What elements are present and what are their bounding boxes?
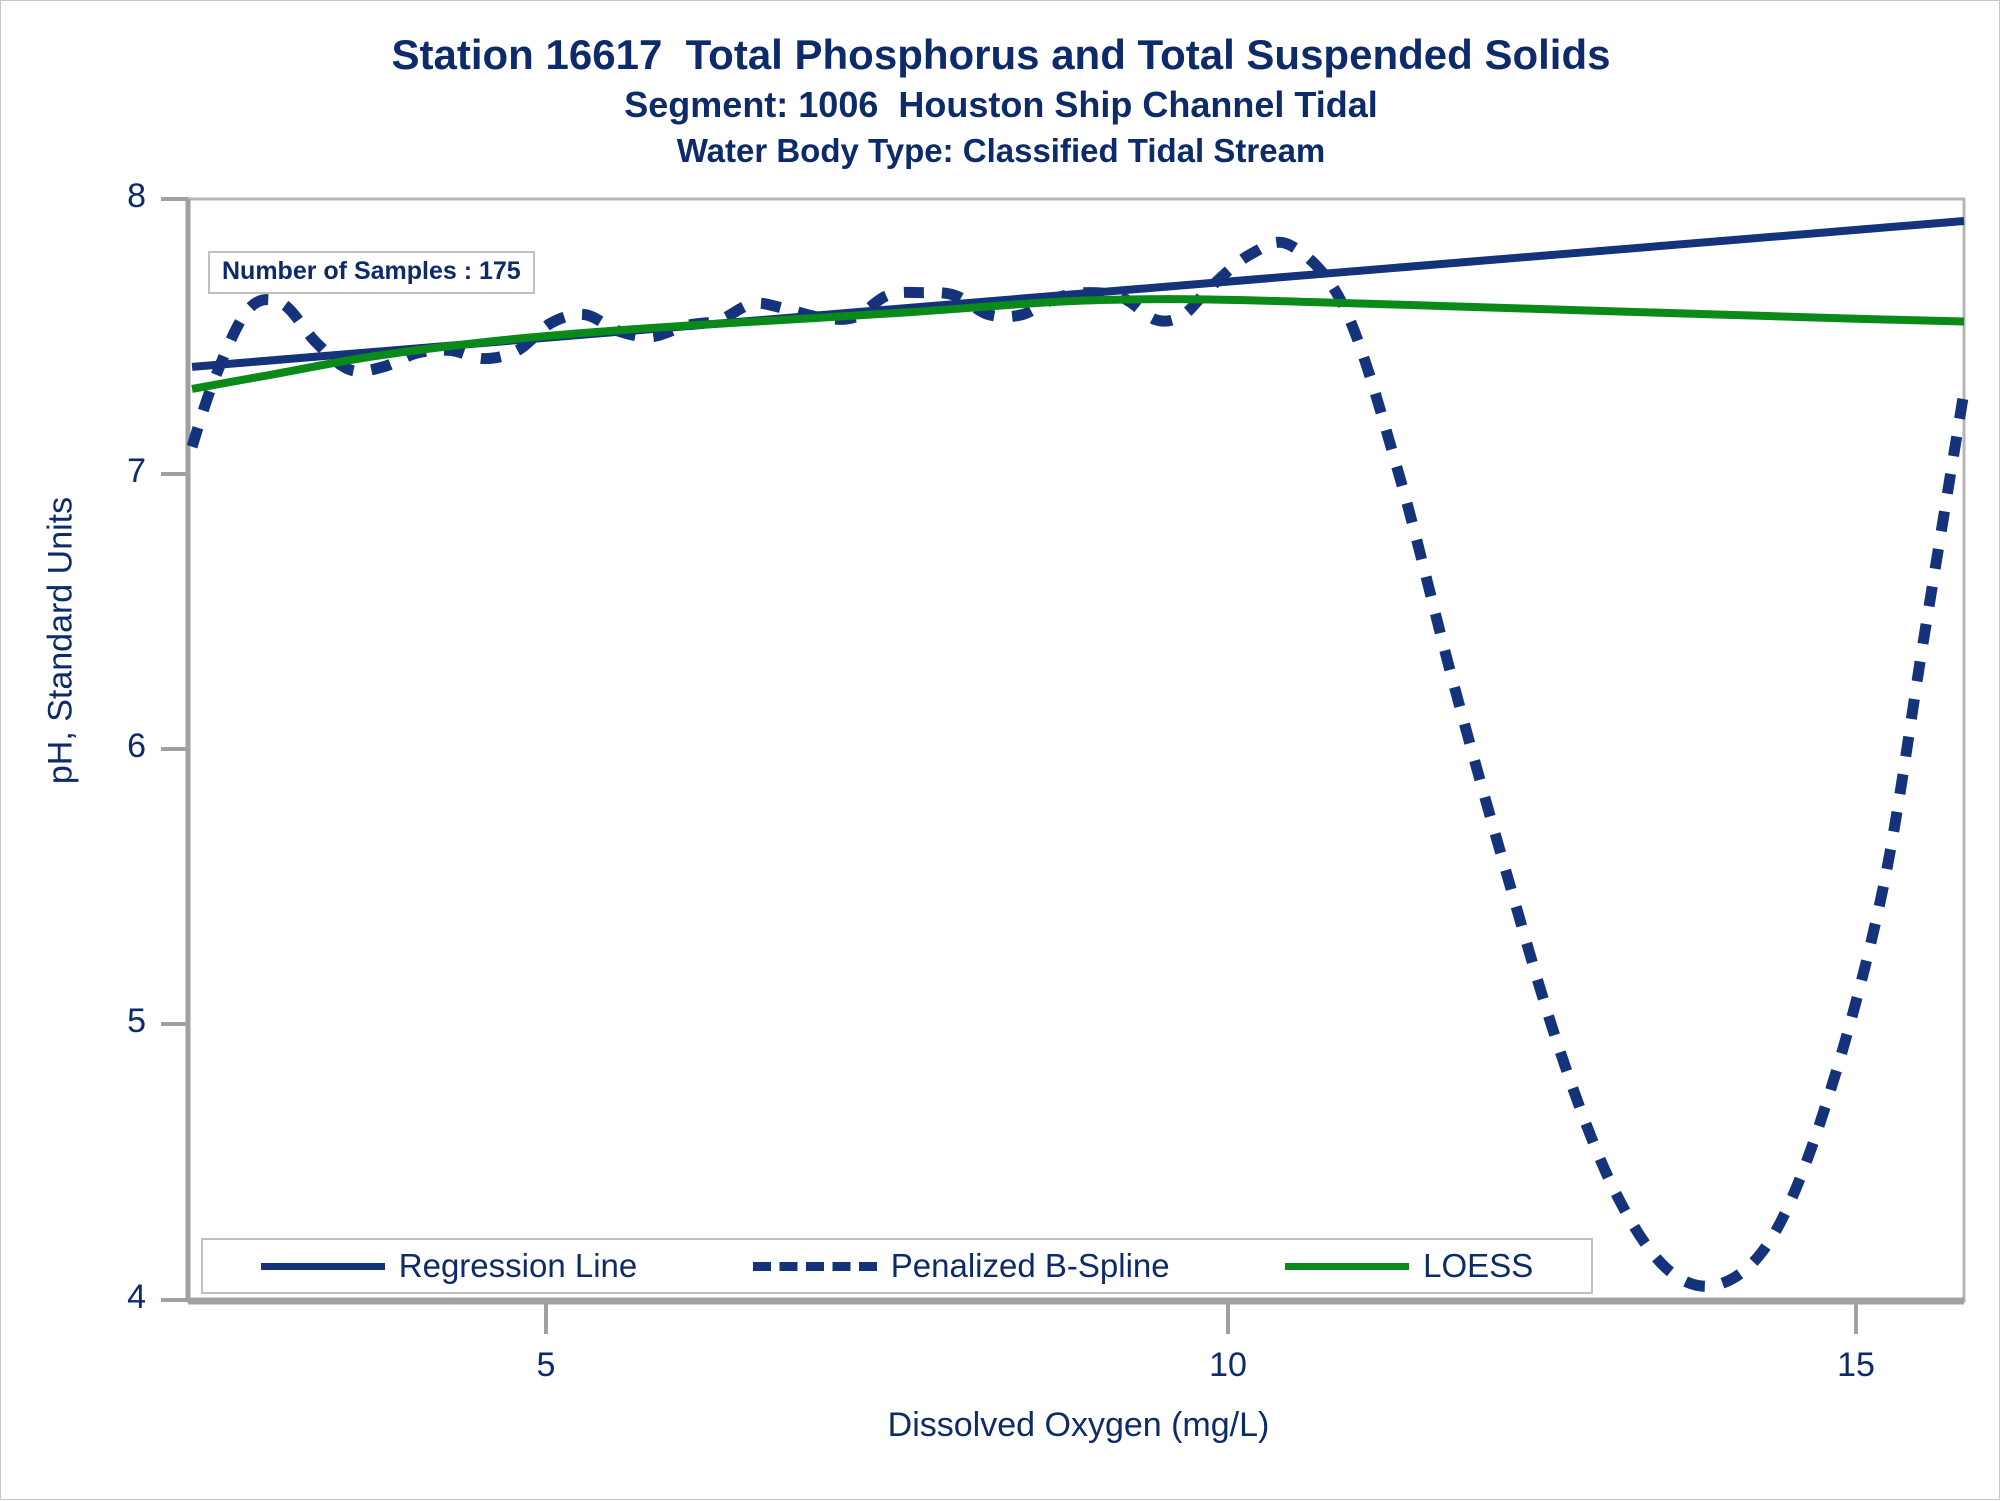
legend-swatch-bspline-icon [753, 1262, 877, 1271]
legend-item-regression[interactable]: Regression Line [261, 1247, 637, 1285]
y-axis-ticks [161, 199, 188, 1300]
legend-item-bspline[interactable]: Penalized B-Spline [753, 1247, 1170, 1285]
y-tick-label: 6 [86, 727, 146, 766]
y-tick-label: 8 [86, 177, 146, 216]
x-axis-title: Dissolved Oxygen (mg/L) [191, 1406, 1966, 1445]
legend-label-bspline: Penalized B-Spline [891, 1247, 1170, 1285]
y-tick-label: 4 [86, 1278, 146, 1317]
legend-label-regression: Regression Line [399, 1247, 637, 1285]
x-axis-ticks [546, 1301, 1856, 1334]
sample-count-badge: Number of Samples : 175 [208, 251, 535, 294]
y-axis-title: pH, Standard Units [42, 391, 81, 891]
x-tick-label: 10 [1183, 1346, 1273, 1385]
x-tick-label: 5 [501, 1346, 591, 1385]
x-tick-label: 15 [1811, 1346, 1901, 1385]
legend-label-loess: LOESS [1423, 1247, 1533, 1285]
chart-legend: Regression Line Penalized B-Spline LOESS [201, 1238, 1593, 1294]
y-tick-label: 5 [86, 1002, 146, 1041]
y-tick-label: 7 [86, 452, 146, 491]
plot-frame [188, 199, 1964, 1301]
legend-item-loess[interactable]: LOESS [1285, 1247, 1533, 1285]
legend-swatch-regression-icon [261, 1263, 385, 1270]
chart-page: Station 16617 Total Phosphorus and Total… [0, 0, 2000, 1500]
legend-swatch-loess-icon [1285, 1263, 1409, 1270]
